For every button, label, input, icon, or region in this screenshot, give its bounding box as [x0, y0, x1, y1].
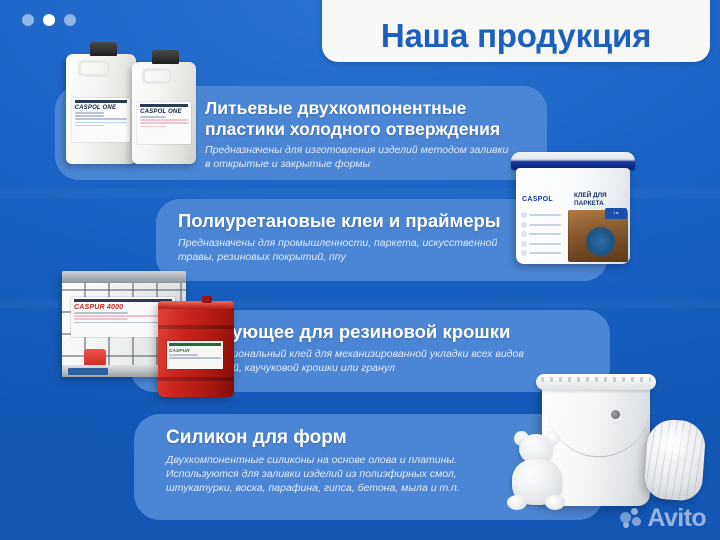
- ibc-top-frame: [62, 271, 186, 283]
- product-card-adhesives-subtitle: Предназначены для промышленности, паркет…: [178, 237, 508, 265]
- product-card-silicone-subtitle: Двухкомпонентные силиконы на основе олов…: [166, 454, 506, 496]
- canister-cap-icon: [90, 42, 117, 56]
- silicone-mold: [643, 418, 706, 502]
- canister-brand-right: CASPOL ONE: [140, 109, 188, 115]
- avito-wordmark: Avito: [647, 506, 706, 531]
- canister-handle: [78, 60, 110, 77]
- avito-logo-icon: [620, 508, 642, 530]
- barrel-label: CASPUR: [167, 341, 223, 369]
- barrel-cap-icon: [202, 296, 212, 303]
- canister-label-left: CASPOL ONE: [72, 98, 131, 142]
- avito-watermark: Avito: [620, 506, 706, 531]
- parquet-glue-bucket-image: CASPOL КЛЕЙ ДЛЯ ПАРКЕТА 1 кг: [507, 152, 639, 264]
- canister-brand-left: CASPOL ONE: [75, 105, 128, 111]
- canister-handle: [142, 68, 172, 84]
- canister-cap-icon: [152, 50, 179, 64]
- bear-paw-right: [545, 495, 565, 510]
- bucket-feature-list: [521, 212, 565, 260]
- product-slide: Наша продукция CASPOL ONE CASPOL ONE: [0, 0, 720, 540]
- bucket-weight-badge: 1 кг: [605, 208, 627, 219]
- canister-right: CASPOL ONE: [132, 62, 196, 164]
- carousel-dot-2[interactable]: [43, 14, 55, 26]
- teddy-bear-figurine: [506, 434, 568, 512]
- carousel-dot-1[interactable]: [22, 14, 34, 26]
- pail-rim: [536, 374, 656, 390]
- barrel-top: [158, 301, 234, 309]
- barrel-brand: CASPUR: [169, 348, 221, 353]
- canister-left: CASPOL ONE: [66, 54, 136, 164]
- ibc-and-barrel-image: CASPUR 4000 CASPUR: [60, 265, 250, 397]
- canisters-image: CASPOL ONE CASPOL ONE: [58, 36, 218, 168]
- canister-label-right: CASPOL ONE: [137, 102, 191, 144]
- bear-paw-left: [507, 495, 527, 510]
- title-panel: Наша продукция: [322, 0, 710, 62]
- red-barrel: CASPUR: [158, 301, 234, 397]
- carousel-dot-3[interactable]: [64, 14, 76, 26]
- bucket-product-name: КЛЕЙ ДЛЯ ПАРКЕТА: [574, 192, 630, 208]
- page-title: Наша продукция: [381, 19, 651, 52]
- carousel-dots[interactable]: [22, 14, 76, 26]
- product-card-plastics-title: Литьевые двухкомпонентные пластики холод…: [205, 98, 529, 139]
- silicone-pail-image: [506, 372, 706, 520]
- product-card-plastics-subtitle: Предназначены для изготовления изделий м…: [205, 144, 515, 172]
- bucket-body: CASPOL КЛЕЙ ДЛЯ ПАРКЕТА 1 кг: [516, 168, 630, 264]
- bucket-brand: CASPOL: [522, 196, 553, 203]
